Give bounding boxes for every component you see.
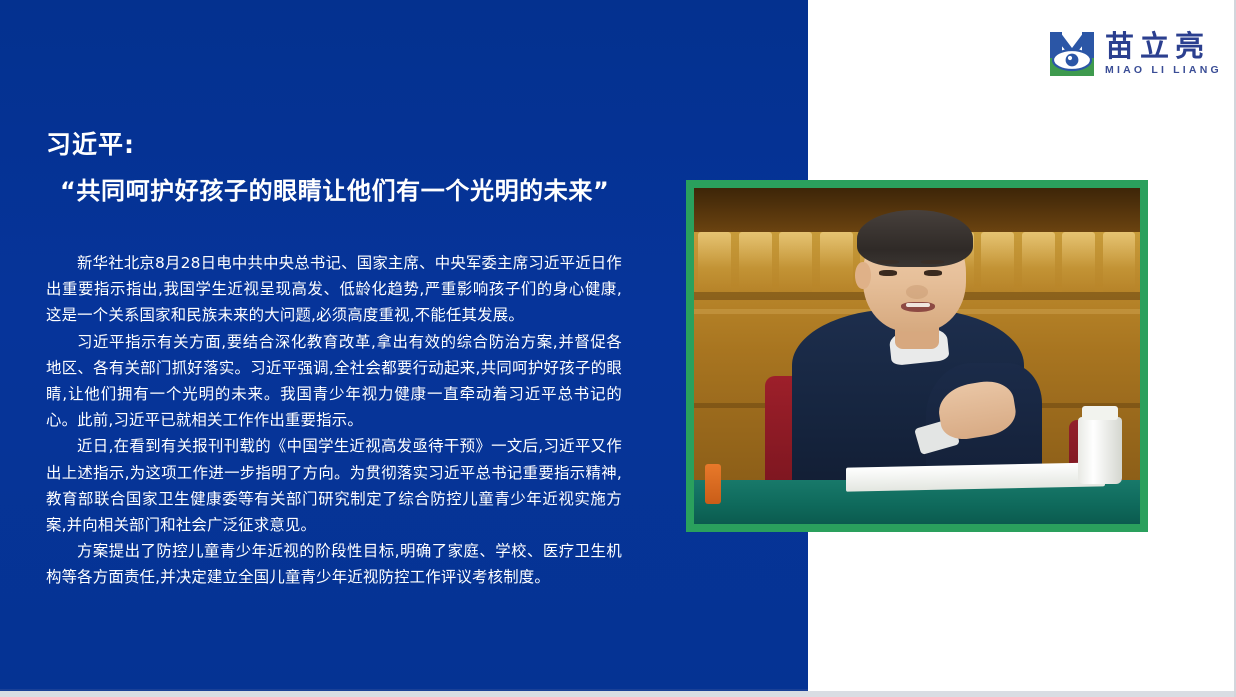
slide-canvas: 苗立亮 MIAO LI LIANG 习近平: “共同呵护好孩子的眼睛让他们有一个… xyxy=(0,0,1236,697)
brand-logo[interactable]: 苗立亮 MIAO LI LIANG xyxy=(1048,28,1222,80)
headline-block: 习近平: “共同呵护好孩子的眼睛让他们有一个光明的未来” xyxy=(46,130,666,206)
slide-bottom-edge xyxy=(0,691,1236,697)
body-paragraph: 近日,在看到有关报刊刊载的《中国学生近视高发亟待干预》一文后,习近平又作出上述指… xyxy=(46,433,622,538)
body-paragraph: 习近平指示有关方面,要结合深化教育改革,拿出有效的综合防治方案,并督促各地区、各… xyxy=(46,329,622,434)
body-paragraph: 新华社北京8月28日电中共中央总书记、国家主席、中央军委主席习近平近日作出重要指… xyxy=(46,250,622,329)
xi-jinping-seated-at-meeting-photo xyxy=(694,188,1140,524)
photo-frame xyxy=(686,180,1148,532)
headline-quote: “共同呵护好孩子的眼睛让他们有一个光明的未来” xyxy=(60,176,666,206)
eye-logo-icon xyxy=(1048,30,1096,78)
logo-latin-name: MIAO LI LIANG xyxy=(1105,65,1222,76)
article-body: 新华社北京8月28日电中共中央总书记、国家主席、中央军委主席习近平近日作出重要指… xyxy=(46,250,622,591)
body-paragraph: 方案提出了防控儿童青少年近视的阶段性目标,明确了家庭、学校、医疗卫生机构等各方面… xyxy=(46,538,622,590)
page-title: 习近平: xyxy=(46,130,666,160)
logo-wordmark: 苗立亮 MIAO LI LIANG xyxy=(1105,30,1222,78)
logo-chinese-name: 苗立亮 xyxy=(1105,32,1222,61)
